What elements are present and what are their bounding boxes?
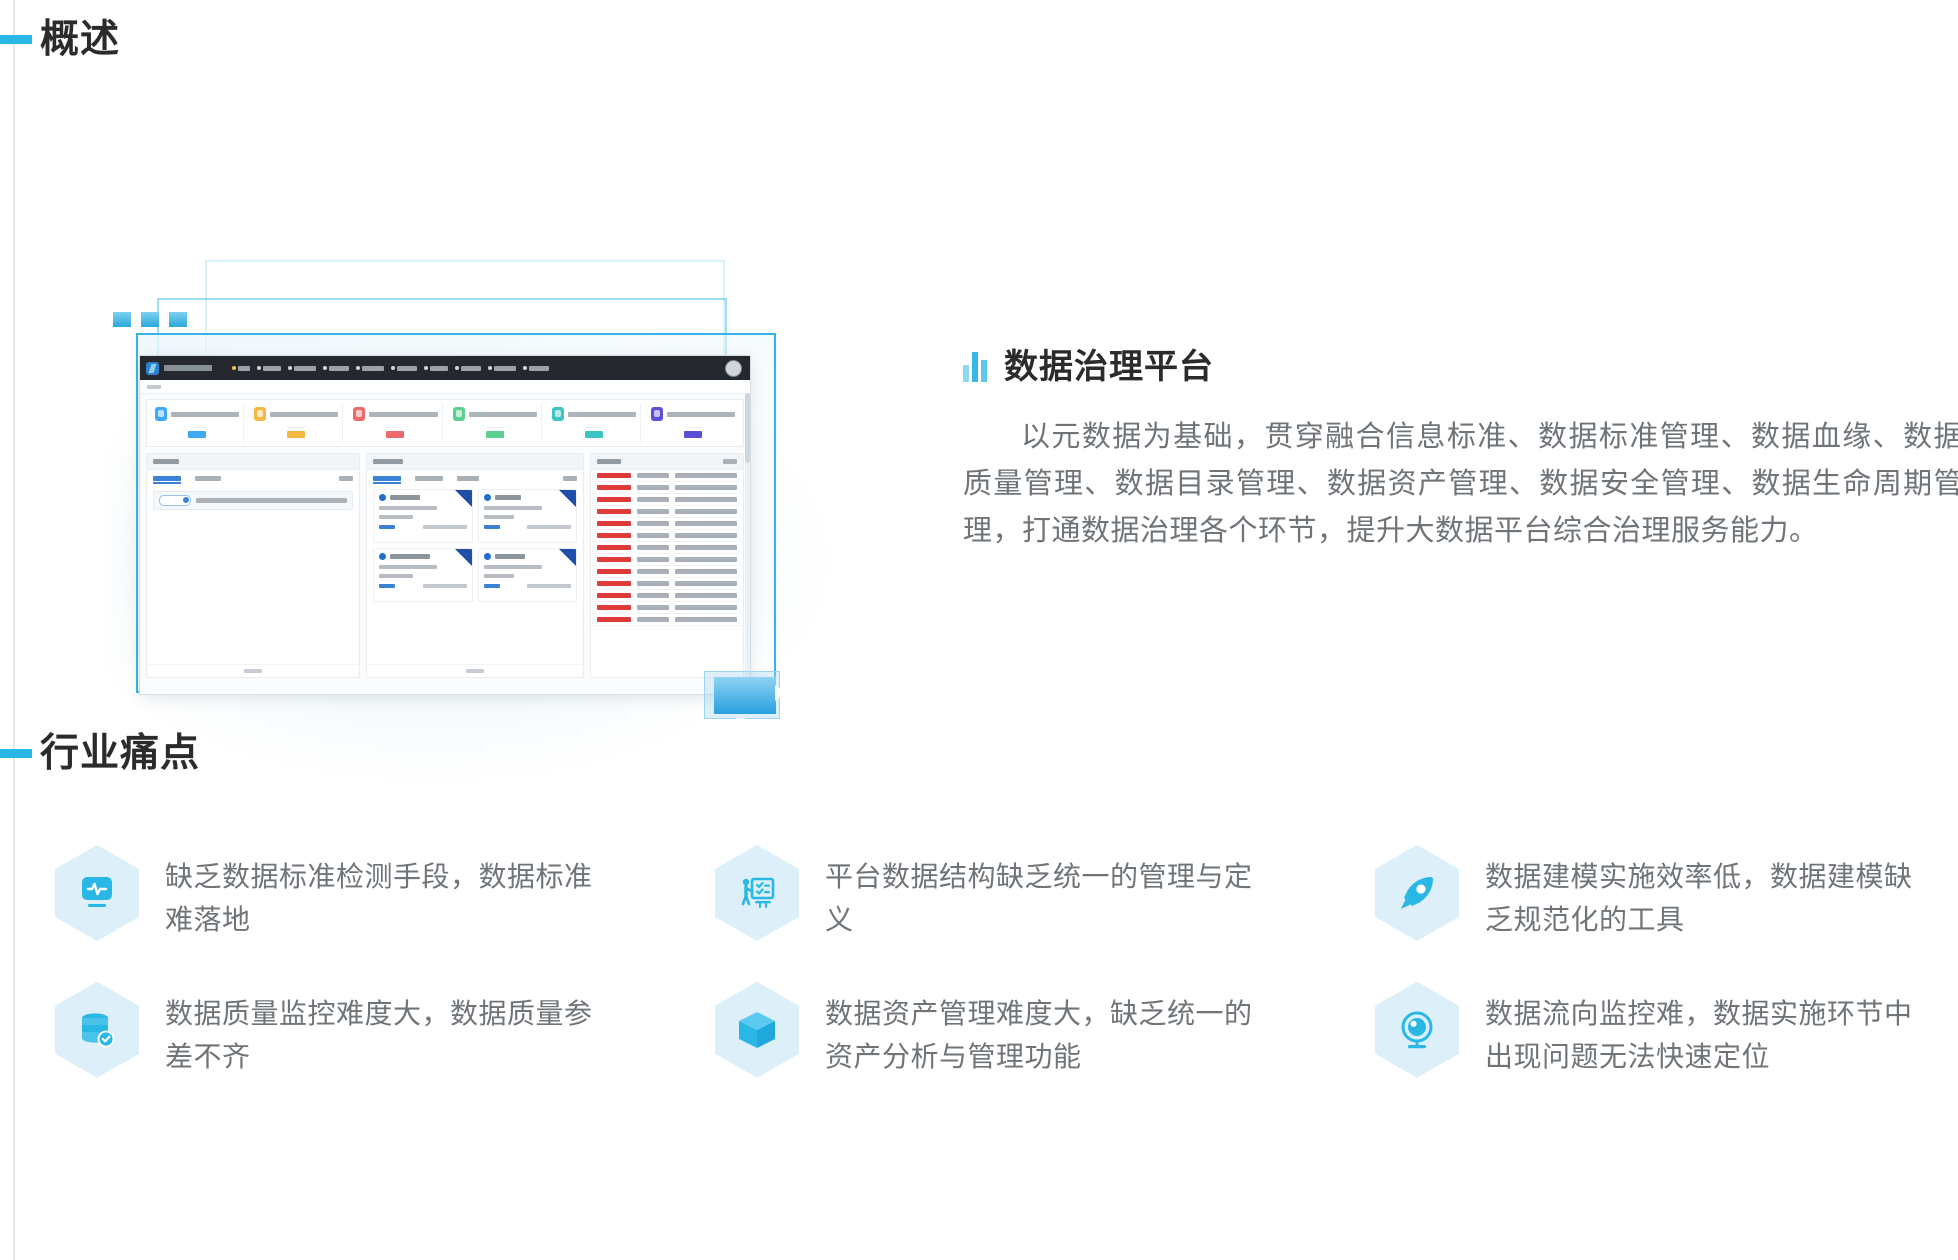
deco-square-3: [169, 312, 187, 327]
mockup-stat-card[interactable]: [548, 404, 641, 442]
mockup-panel-header: [591, 454, 743, 470]
heading-accent-dash: [0, 35, 32, 44]
bar-chart-icon: [963, 352, 987, 382]
mockup-card-ribbon: [559, 490, 576, 507]
rocket-icon: [1395, 871, 1439, 915]
mockup-stat-label: [171, 412, 239, 417]
mockup-nav-item[interactable]: [288, 366, 316, 371]
mockup-logo-icon: [146, 362, 159, 375]
pain-point-text: 数据资产管理难度大，缺乏统一的资产分析与管理功能: [825, 982, 1255, 1079]
mockup-stat-card[interactable]: [647, 404, 739, 442]
mockup-nav-item[interactable]: [257, 366, 281, 371]
mockup-nav-item[interactable]: [424, 366, 448, 371]
product-screenshot-mockup: [139, 355, 751, 695]
mockup-alert-list: [591, 470, 743, 626]
mockup-breadcrumb-text: [147, 385, 161, 389]
mockup-stat-value: [585, 431, 603, 438]
mockup-stat-value: [287, 431, 305, 438]
pain-point-item: 数据质量监控难度大，数据质量参差不齐: [55, 982, 715, 1079]
mockup-tab-underline: [153, 482, 181, 484]
mockup-mini-card[interactable]: [373, 548, 473, 602]
mockup-alert-row[interactable]: [591, 530, 743, 542]
mockup-panel-footer: [367, 664, 583, 677]
mockup-card-dot-icon: [379, 494, 386, 501]
mockup-center-panel: [366, 453, 584, 678]
mockup-nav-item[interactable]: [523, 366, 549, 371]
mockup-panel-footer-mark: [466, 669, 484, 673]
pain-point-icon-hexagon: [55, 845, 139, 941]
mockup-alert-row[interactable]: [591, 470, 743, 482]
mockup-panels: [146, 453, 744, 678]
mockup-stat-icon: [155, 407, 167, 421]
mockup-tab[interactable]: [457, 476, 479, 481]
mockup-stat-card[interactable]: [349, 404, 442, 442]
cube-icon: [734, 1007, 780, 1053]
mockup-mini-card[interactable]: [478, 548, 578, 602]
mockup-alert-row[interactable]: [591, 614, 743, 626]
mockup-nav-item[interactable]: [488, 366, 516, 371]
deco-accent-tail: [736, 718, 746, 728]
mockup-brand-name: [164, 365, 216, 371]
mockup-stat-value: [684, 431, 702, 438]
intro-block: 数据治理平台 以元数据为基础，贯穿融合信息标准、数据标准管理、数据血缘、数据质量…: [963, 350, 1958, 584]
deco-accent-fill: [714, 677, 776, 714]
mockup-card-ribbon: [455, 549, 472, 566]
mockup-tab-more[interactable]: [339, 476, 353, 481]
mockup-scrollbar[interactable]: [745, 393, 750, 694]
deco-square-1: [113, 312, 131, 327]
mockup-panel-title: [153, 459, 179, 464]
mockup-alert-row[interactable]: [591, 482, 743, 494]
mockup-alert-row[interactable]: [591, 578, 743, 590]
mockup-nav-item[interactable]: [232, 366, 250, 371]
mockup-stat-icon: [254, 407, 266, 421]
mockup-nav-item[interactable]: [391, 366, 417, 371]
intro-body-text: 以元数据为基础，贯穿融合信息标准、数据标准管理、数据血缘、数据质量管理、数据目录…: [963, 414, 1958, 555]
pain-point-text: 数据流向监控难，数据实施环节中出现问题无法快速定位: [1485, 982, 1915, 1079]
presentation-person-icon: [735, 871, 779, 915]
mockup-alert-row[interactable]: [591, 602, 743, 614]
mockup-list-item[interactable]: [153, 491, 353, 510]
mockup-card-dot-icon: [484, 553, 491, 560]
mockup-nav-item[interactable]: [455, 366, 481, 371]
mockup-alert-row[interactable]: [591, 554, 743, 566]
mockup-stat-icon: [651, 407, 663, 421]
mockup-card-ribbon: [455, 490, 472, 507]
intro-title: 数据治理平台: [1004, 350, 1214, 384]
mockup-tab[interactable]: [195, 476, 221, 481]
mockup-panel-footer-mark: [244, 669, 262, 673]
pain-point-item: 数据资产管理难度大，缺乏统一的资产分析与管理功能: [715, 982, 1375, 1079]
database-check-icon: [75, 1008, 119, 1052]
mockup-alert-row[interactable]: [591, 542, 743, 554]
pain-point-text: 数据建模实施效率低，数据建模缺乏规范化的工具: [1485, 845, 1915, 942]
mockup-tabbar: [147, 470, 359, 485]
mockup-stat-card[interactable]: [151, 404, 244, 442]
pain-point-text: 缺乏数据标准检测手段，数据标准难落地: [165, 845, 595, 942]
mockup-panel-title: [373, 459, 403, 464]
pain-point-icon-hexagon: [715, 845, 799, 941]
mockup-alert-row[interactable]: [591, 494, 743, 506]
mockup-stat-value: [386, 431, 404, 438]
mockup-stat-value: [188, 431, 206, 438]
heading-accent-dash: [0, 749, 32, 758]
mockup-mini-card[interactable]: [373, 489, 473, 543]
mockup-stat-icon: [353, 407, 365, 421]
mockup-stat-label: [469, 412, 537, 417]
pain-point-item: 缺乏数据标准检测手段，数据标准难落地: [55, 845, 715, 942]
mockup-panel-title: [597, 459, 621, 464]
painpoints-heading-label: 行业痛点: [40, 734, 200, 773]
pain-point-icon-hexagon: [1375, 845, 1459, 941]
deco-square-2: [141, 312, 159, 327]
mockup-card-ribbon: [559, 549, 576, 566]
mockup-stat-icon: [552, 407, 564, 421]
mockup-tab-active[interactable]: [153, 476, 181, 481]
mockup-panel-more[interactable]: [723, 459, 737, 464]
mockup-stat-value: [486, 431, 504, 438]
mockup-left-panel: [146, 453, 360, 678]
section-heading-painpoints: 行业痛点: [0, 730, 200, 776]
mockup-topbar: [140, 356, 750, 380]
overview-section: 数据治理平台 以元数据为基础，贯穿融合信息标准、数据标准管理、数据血缘、数据质量…: [0, 100, 1958, 660]
mockup-breadcrumb: [140, 380, 750, 394]
mockup-stat-card[interactable]: [449, 404, 542, 442]
mockup-alert-row[interactable]: [591, 518, 743, 530]
deco-accent-arrow-icon: [775, 685, 786, 701]
pain-point-item: 数据建模实施效率低，数据建模缺乏规范化的工具: [1375, 845, 1935, 942]
webcam-monitor-icon: [1395, 1008, 1439, 1052]
pain-point-icon-hexagon: [1375, 982, 1459, 1078]
mockup-stat-label: [667, 412, 735, 417]
mockup-stat-card[interactable]: [250, 404, 343, 442]
mockup-tab[interactable]: [415, 476, 443, 481]
mockup-stat-label: [270, 412, 338, 417]
section-heading-overview: 概述: [0, 16, 120, 62]
mockup-tabbar: [367, 470, 583, 485]
mockup-panel-footer: [147, 664, 359, 677]
mockup-stat-icon: [453, 407, 465, 421]
mockup-tab-active[interactable]: [373, 476, 401, 481]
mockup-list-text: [196, 498, 347, 503]
pain-point-item: 平台数据结构缺乏统一的管理与定义: [715, 845, 1375, 942]
pain-point-item: 数据流向监控难，数据实施环节中出现问题无法快速定位: [1375, 982, 1935, 1079]
mockup-panel-header: [367, 454, 583, 470]
mockup-card-dot-icon: [484, 494, 491, 501]
mockup-nav: [232, 366, 549, 371]
mockup-body: [140, 394, 750, 683]
mockup-scrollbar-thumb[interactable]: [745, 393, 750, 463]
mockup-panel-header: [147, 454, 359, 470]
mockup-mini-card[interactable]: [478, 489, 578, 543]
mockup-user-avatar[interactable]: [725, 360, 742, 377]
pain-point-text: 数据质量监控难度大，数据质量参差不齐: [165, 982, 595, 1079]
deco-squares: [113, 312, 187, 327]
mockup-stat-label: [568, 412, 636, 417]
deco-accent-card: [690, 665, 778, 720]
mockup-list-chip: [159, 495, 191, 506]
monitor-pulse-icon: [75, 871, 119, 915]
mockup-alert-row[interactable]: [591, 590, 743, 602]
mockup-alert-row[interactable]: [591, 566, 743, 578]
mockup-right-panel: [590, 453, 744, 678]
mockup-tab-underline: [373, 482, 401, 484]
mockup-alert-row[interactable]: [591, 506, 743, 518]
mockup-stat-label: [369, 412, 437, 417]
pain-point-icon-hexagon: [55, 982, 139, 1078]
pain-point-text: 平台数据结构缺乏统一的管理与定义: [825, 845, 1255, 942]
mockup-nav-item[interactable]: [356, 366, 384, 371]
mockup-tab-more[interactable]: [563, 476, 577, 481]
mockup-stat-cards: [146, 399, 744, 447]
mockup-card-dot-icon: [379, 553, 386, 560]
mockup-nav-item[interactable]: [323, 366, 349, 371]
pain-point-grid: 缺乏数据标准检测手段，数据标准难落地 平台数据结构缺乏统一的管理与定义: [55, 845, 1955, 1079]
overview-heading-label: 概述: [40, 20, 120, 59]
pain-point-icon-hexagon: [715, 982, 799, 1078]
mockup-card-grid: [367, 485, 583, 606]
